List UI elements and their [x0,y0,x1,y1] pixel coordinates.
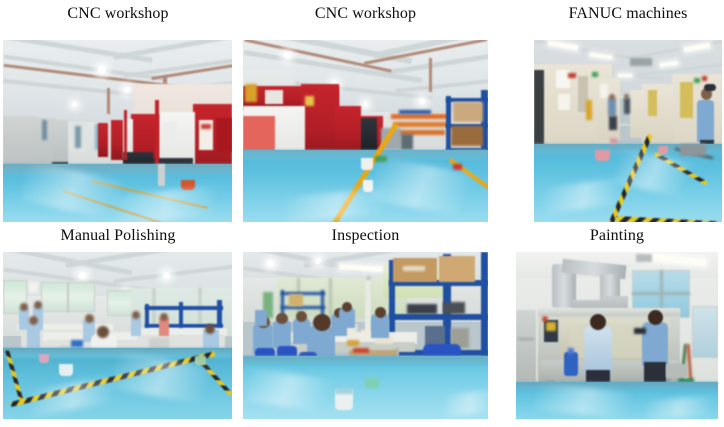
photo-caption-manual-polishing: Manual Polishing [3,226,233,245]
photo-caption-inspection: Inspection [243,226,488,245]
photo-cnc-workshop-1 [3,40,232,222]
photo-caption-cnc-workshop-1: CNC workshop [3,4,233,23]
photo-fanuc-machines [534,40,722,222]
photo-manual-polishing [3,252,232,419]
photo-caption-cnc-workshop-2: CNC workshop [243,4,488,23]
photo-caption-painting: Painting [516,226,718,245]
photo-cnc-workshop-2 [243,40,488,222]
photo-inspection [243,252,488,419]
photo-caption-fanuc-machines: FANUC machines [534,4,722,23]
image-grid-sheet: CNC workshop [0,0,724,427]
photo-painting [516,252,718,419]
